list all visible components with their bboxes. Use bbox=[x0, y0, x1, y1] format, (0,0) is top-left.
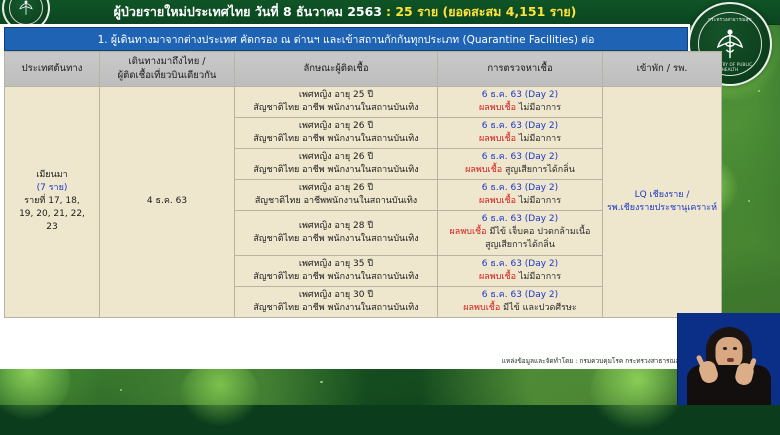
interpreter-eye-right bbox=[733, 347, 737, 350]
test-result-label: ผลพบเชื้อ bbox=[479, 103, 516, 113]
cell-origin: เมียนมา (7 ราย) รายที่ 17, 18, 19, 20, 2… bbox=[5, 87, 100, 318]
cell-profile: เพศหญิง อายุ 26 ปี สัญชาติไทย อาชีพพนักง… bbox=[235, 180, 438, 211]
cell-profile: เพศหญิง อายุ 30 ปี สัญชาติไทย อาชีพ พนัก… bbox=[235, 286, 438, 317]
table-row: เมียนมา (7 ราย) รายที่ 17, 18, 19, 20, 2… bbox=[5, 87, 722, 118]
cell-test: 6 ธ.ค. 63 (Day 2) ผลพบเชื้อ ไม่มีอาการ bbox=[438, 180, 603, 211]
test-result-label: ผลพบเชื้อ bbox=[479, 272, 516, 282]
particle-6 bbox=[758, 90, 760, 92]
profile-line2: สัญชาติไทย อาชีพ พนักงานในสถานบันเทิง bbox=[253, 234, 418, 244]
profile-line2: สัญชาติไทย อาชีพ พนักงานในสถานบันเทิง bbox=[253, 103, 418, 113]
interpreter-eye-left bbox=[723, 347, 727, 350]
cases-table: ประเทศต้นทาง เดินทางมาถึงไทย / ผู้ติดเชื… bbox=[4, 51, 722, 318]
accommodation-line2: รพ.เชียงรายประชานุเคราะห์ bbox=[607, 203, 717, 213]
cell-test: 6 ธ.ค. 63 (Day 2) ผลพบเชื้อ มีไข้ เจ็บคอ… bbox=[438, 211, 603, 255]
table-header-row: ประเทศต้นทาง เดินทางมาถึงไทย / ผู้ติดเชื… bbox=[5, 52, 722, 87]
test-date: 6 ธ.ค. 63 (Day 2) bbox=[482, 290, 558, 300]
virus-blob-bottom-mid bbox=[180, 360, 260, 430]
column-header-arrival-line2: ผู้ติดเชื้อเที่ยวบินเดียวกัน bbox=[118, 70, 217, 81]
table-body: เมียนมา (7 ราย) รายที่ 17, 18, 19, 20, 2… bbox=[5, 87, 722, 318]
table-header: ประเทศต้นทาง เดินทางมาถึงไทย / ผู้ติดเชื… bbox=[5, 52, 722, 87]
ministry-logo-small-inner bbox=[9, 0, 43, 25]
origin-count: (7 ราย) bbox=[8, 182, 96, 195]
profile-line1: เพศหญิง อายุ 26 ปี bbox=[299, 121, 373, 131]
origin-cases-line2: 19, 20, 21, 22, bbox=[8, 208, 96, 221]
origin-cases-line1: รายที่ 17, 18, bbox=[8, 195, 96, 208]
cell-test: 6 ธ.ค. 63 (Day 2) ผลพบเชื้อ ไม่มีอาการ bbox=[438, 87, 603, 118]
cell-test: 6 ธ.ค. 63 (Day 2) ผลพบเชื้อ ไม่มีอาการ bbox=[438, 118, 603, 149]
column-header-test: การตรวจหาเชื้อ bbox=[438, 52, 603, 87]
test-result-label: ผลพบเชื้อ bbox=[463, 303, 500, 313]
test-symptoms-line1: ไม่มีอาการ bbox=[519, 134, 561, 144]
column-header-origin: ประเทศต้นทาง bbox=[5, 52, 100, 87]
test-date: 6 ธ.ค. 63 (Day 2) bbox=[482, 121, 558, 131]
cell-profile: เพศหญิง อายุ 25 ปี สัญชาติไทย อาชีพ พนัก… bbox=[235, 87, 438, 118]
cell-test: 6 ธ.ค. 63 (Day 2) ผลพบเชื้อ ไม่มีอาการ bbox=[438, 255, 603, 286]
profile-line2: สัญชาติไทย อาชีพพนักงานในสถานบันเทิง bbox=[255, 196, 417, 206]
profile-line1: เพศหญิง อายุ 25 ปี bbox=[299, 90, 373, 100]
cell-accommodation: LQ เชียงราย / รพ.เชียงรายประชานุเคราะห์ bbox=[603, 87, 722, 318]
test-date: 6 ธ.ค. 63 (Day 2) bbox=[482, 152, 558, 162]
profile-line1: เพศหญิง อายุ 30 ปี bbox=[299, 290, 373, 300]
section-banner: 1. ผู้เดินทางมาจากต่างประเทศ คัดกรอง ณ ด… bbox=[4, 27, 688, 51]
profile-line1: เพศหญิง อายุ 28 ปี bbox=[299, 221, 373, 231]
test-result-label: ผลพบเชื้อ bbox=[479, 134, 516, 144]
particle-2 bbox=[748, 200, 750, 202]
profile-line1: เพศหญิง อายุ 26 ปี bbox=[299, 152, 373, 162]
page-title: ผู้ป่วยรายใหม่ประเทศไทย วันที่ 8 ธันวาคม… bbox=[0, 0, 690, 24]
origin-country: เมียนมา bbox=[8, 169, 96, 182]
particle-4 bbox=[120, 389, 122, 391]
slide-content: 1. ผู้เดินทางมาจากต่างประเทศ คัดกรอง ณ ด… bbox=[0, 24, 690, 369]
column-header-accommodation: เข้าพัก / รพ. bbox=[603, 52, 722, 87]
test-date: 6 ธ.ค. 63 (Day 2) bbox=[482, 90, 558, 100]
test-symptoms-line1: มีไข้ เจ็บคอ ปวดกล้ามเนื้อ bbox=[489, 227, 590, 237]
test-symptoms-line2: สูญเสียการได้กลิ่น bbox=[485, 240, 555, 250]
profile-line2: สัญชาติไทย อาชีพ พนักงานในสถานบันเทิง bbox=[253, 134, 418, 144]
test-symptoms-line1: ไม่มีอาการ bbox=[519, 103, 561, 113]
cell-profile: เพศหญิง อายุ 35 ปี สัญชาติไทย อาชีพ พนัก… bbox=[235, 255, 438, 286]
profile-line1: เพศหญิง อายุ 26 ปี bbox=[299, 183, 373, 193]
accommodation-line1: LQ เชียงราย / bbox=[635, 190, 690, 200]
cell-profile: เพศหญิง อายุ 28 ปี สัญชาติไทย อาชีพ พนัก… bbox=[235, 211, 438, 255]
test-symptoms-line1: ไม่มีอาการ bbox=[519, 196, 561, 206]
test-symptoms-line1: ไม่มีอาการ bbox=[519, 272, 561, 282]
caduceus-icon-small bbox=[17, 0, 35, 17]
cell-arrival-date: 4 ธ.ค. 63 bbox=[100, 87, 235, 318]
test-result-label: ผลพบเชื้อ bbox=[465, 165, 502, 175]
cell-test: 6 ธ.ค. 63 (Day 2) ผลพบเชื้อ สูญเสียการได… bbox=[438, 149, 603, 180]
sign-language-interpreter-panel bbox=[677, 313, 780, 405]
column-header-profile: ลักษณะผู้ติดเชื้อ bbox=[235, 52, 438, 87]
header-bar: ผู้ป่วยรายใหม่ประเทศไทย วันที่ 8 ธันวาคม… bbox=[0, 0, 780, 25]
particle-5 bbox=[320, 381, 323, 384]
test-symptoms-line1: สูญเสียการได้กลิ่น bbox=[505, 165, 575, 175]
test-result-label: ผลพบเชื้อ bbox=[450, 227, 487, 237]
profile-line1: เพศหญิง อายุ 35 ปี bbox=[299, 259, 373, 269]
profile-line2: สัญชาติไทย อาชีพ พนักงานในสถานบันเทิง bbox=[253, 165, 418, 175]
profile-line2: สัญชาติไทย อาชีพ พนักงานในสถานบันเทิง bbox=[253, 303, 418, 313]
test-date: 6 ธ.ค. 63 (Day 2) bbox=[482, 214, 558, 224]
test-result-label: ผลพบเชื้อ bbox=[479, 196, 516, 206]
section-banner-text: 1. ผู้เดินทางมาจากต่างประเทศ คัดกรอง ณ ด… bbox=[98, 31, 595, 48]
origin-cases-line3: 23 bbox=[8, 221, 96, 234]
page-title-text: ผู้ป่วยรายใหม่ประเทศไทย วันที่ 8 ธันวาคม… bbox=[114, 2, 382, 22]
cell-test: 6 ธ.ค. 63 (Day 2) ผลพบเชื้อ มีไข้ และปวด… bbox=[438, 286, 603, 317]
test-date: 6 ธ.ค. 63 (Day 2) bbox=[482, 259, 558, 269]
cell-profile: เพศหญิง อายุ 26 ปี สัญชาติไทย อาชีพ พนัก… bbox=[235, 118, 438, 149]
source-credit: แหล่งข้อมูลและจัดทำโดย : กรมควบคุมโรค กร… bbox=[502, 356, 684, 366]
ministry-logo-top-label: กระทรวงสาธารณสุข bbox=[699, 16, 761, 23]
test-date: 6 ธ.ค. 63 (Day 2) bbox=[482, 183, 558, 193]
column-header-arrival-line1: เดินทางมาถึงไทย / bbox=[129, 56, 206, 67]
column-header-arrival: เดินทางมาถึงไทย / ผู้ติดเชื้อเที่ยวบินเด… bbox=[100, 52, 235, 87]
profile-line2: สัญชาติไทย อาชีพ พนักงานในสถานบันเทิง bbox=[253, 272, 418, 282]
case-count-text: : 25 ราย (ยอดสะสม 4,151 ราย) bbox=[386, 2, 576, 22]
cell-profile: เพศหญิง อายุ 26 ปี สัญชาติไทย อาชีพ พนัก… bbox=[235, 149, 438, 180]
interpreter-mouth bbox=[727, 358, 734, 362]
test-symptoms-line1: มีไข้ และปวดศีรษะ bbox=[503, 303, 577, 313]
